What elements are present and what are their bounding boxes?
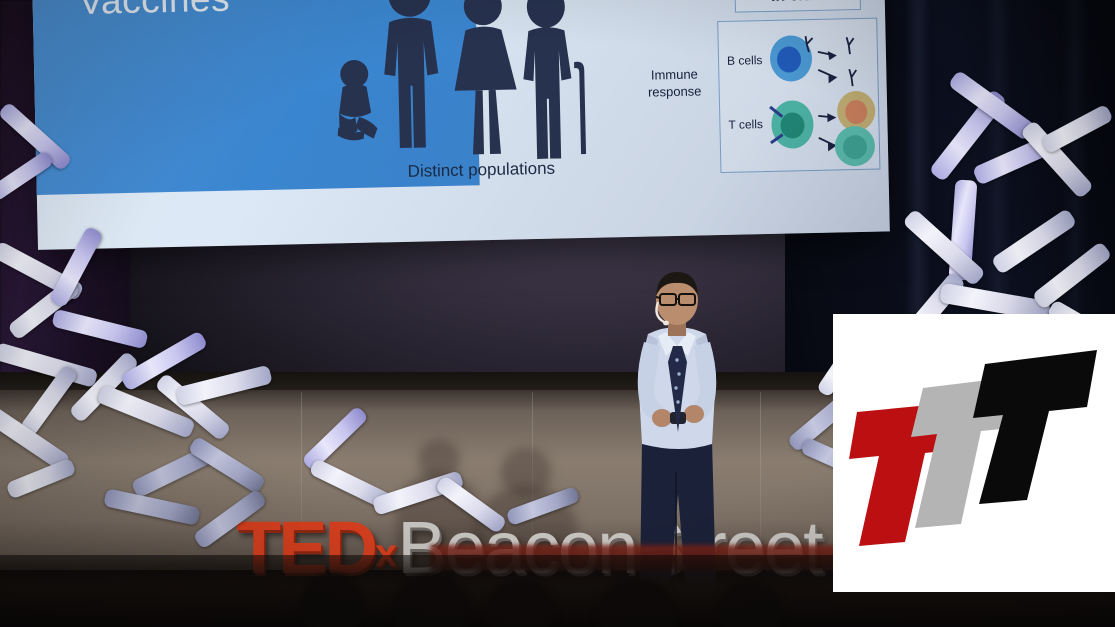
distinct-populations-figures bbox=[332, 0, 606, 163]
in-vitro-panel: In vitro bbox=[733, 0, 861, 13]
b-cell-icon bbox=[770, 35, 814, 82]
ttt-logo-icon bbox=[833, 314, 1115, 592]
t-cell-icon bbox=[770, 100, 814, 149]
slide-label-immune-response: Immune response bbox=[634, 65, 715, 101]
screenshot-canvas: Vaccines bbox=[0, 0, 1115, 627]
ttt-logo-watermark bbox=[833, 314, 1115, 592]
in-vitro-label: In vitro bbox=[735, 0, 859, 7]
slide-surface: Vaccines bbox=[32, 0, 890, 250]
slide-caption-populations: Distinct populations bbox=[366, 158, 596, 183]
immune-line-2: response bbox=[635, 82, 715, 101]
antibody-icon bbox=[847, 37, 857, 86]
cells-diagram bbox=[718, 19, 879, 172]
slide-title: Vaccines bbox=[78, 0, 230, 23]
projection-screen: Vaccines bbox=[32, 0, 890, 250]
immune-line-1: Immune bbox=[634, 65, 714, 84]
immune-cells-panel: B cells T cells bbox=[717, 18, 880, 173]
